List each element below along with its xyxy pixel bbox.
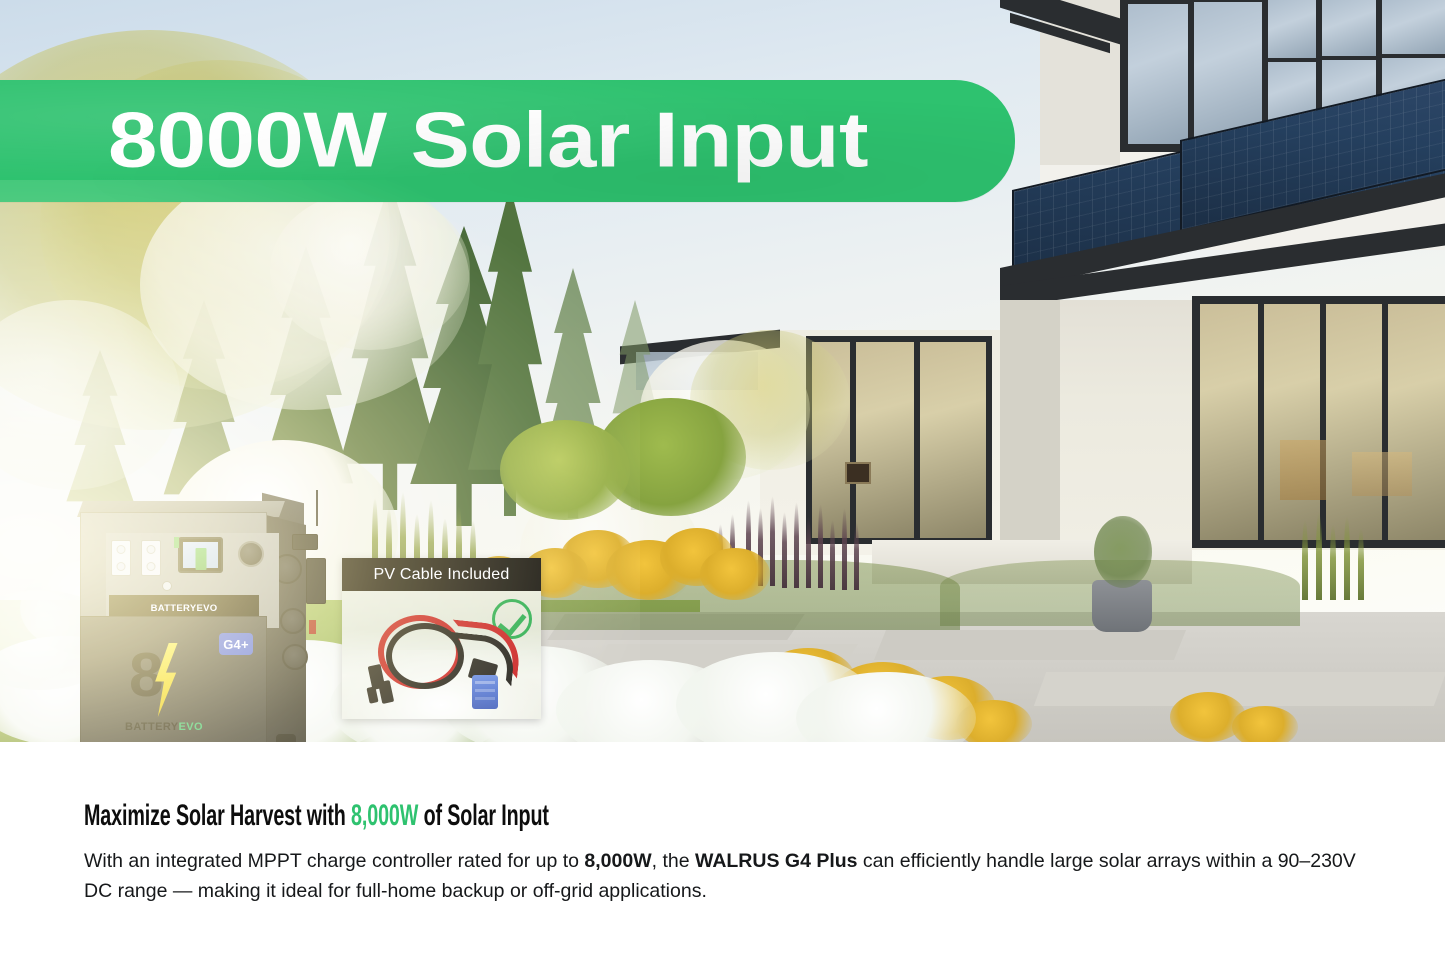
patio-door-pane [1326,304,1382,540]
brand-logo-text-green: EVO [179,721,203,733]
wing-window-pane [920,342,986,538]
interior-furniture-glow [1352,452,1412,496]
connector-ridge [475,681,495,684]
patio-door-pane [1200,304,1258,540]
connector-ridge [475,697,495,700]
side-breaker-switch [309,620,316,634]
brand-plate-label: BATTERYEVO [151,603,218,614]
paving-slab [1034,672,1445,706]
potted-plant [1094,516,1152,588]
side-fan-icon [280,608,306,634]
station-control-panel: BATTERYEVO [80,512,267,619]
paving-slab [874,630,1186,660]
hero-photo: 8000W Solar Input PV Cable Included [0,0,1445,742]
g4-plus-badge: G4+ [219,633,253,655]
paragraph-bold-wattage: 8,000W [584,850,651,872]
battery-level-icon [195,548,206,570]
mc4-connector [378,680,394,704]
connector-ridge [475,689,495,692]
upper-window-pane [1194,2,1262,138]
pv-cable-panel: PV Cable Included [342,558,541,719]
lcd-display [178,537,223,573]
product-feature-page: 8000W Solar Input PV Cable Included [0,0,1445,963]
power-station-product: BATTERYEVO G4+ 8 BATTERYEVO [62,498,334,742]
side-fan-icon [282,644,308,670]
interior-furniture-glow [1280,440,1326,500]
upper-window-pane [1322,0,1376,56]
copy-block: Maximize Solar Harvest with 8,000W of So… [84,798,1374,907]
side-cover [306,558,326,604]
pv-cable-photo [342,591,541,719]
house-lower-wall-shade [1000,300,1060,550]
paragraph-segment-2: , the [652,850,695,872]
patio-door-pane [1388,304,1445,540]
ac-outlet [141,540,161,576]
pv-cable-panel-header: PV Cable Included [342,558,541,591]
headline: Maximize Solar Harvest with 8,000W of So… [84,798,932,833]
shrub [500,420,630,520]
side-display-port [292,534,318,550]
paragraph-bold-product: WALRUS G4 Plus [695,850,858,872]
caster-wheel [276,734,296,742]
headline-part-1: Maximize Solar Harvest with [84,799,351,832]
station-battery-enclosure: G4+ 8 BATTERYEVO [80,616,267,742]
body-paragraph: With an integrated MPPT charge controlle… [84,847,1356,906]
power-knob [238,541,264,567]
paragraph-segment-1: With an integrated MPPT charge controlle… [84,850,584,872]
upper-window-pane [1268,0,1316,58]
power-button[interactable] [162,581,172,591]
upper-window-pane [1382,0,1445,54]
headline-part-2: of Solar Input [418,799,549,832]
pv-cable-panel-label: PV Cable Included [374,566,510,584]
headline-banner: 8000W Solar Input [0,80,1015,202]
brand-logo-text-dark: BATTERY [125,721,179,733]
brand-logo-text: BATTERYEVO [125,721,203,733]
status-led [174,537,179,548]
lcd-screen [183,542,218,568]
antenna [316,490,318,526]
headline-highlight: 8,000W [351,799,418,832]
ac-outlet [111,540,131,576]
banner-title: 8000W Solar Input [108,100,868,178]
patio-door-pane [1264,304,1320,540]
upper-window-pane [1128,4,1188,144]
